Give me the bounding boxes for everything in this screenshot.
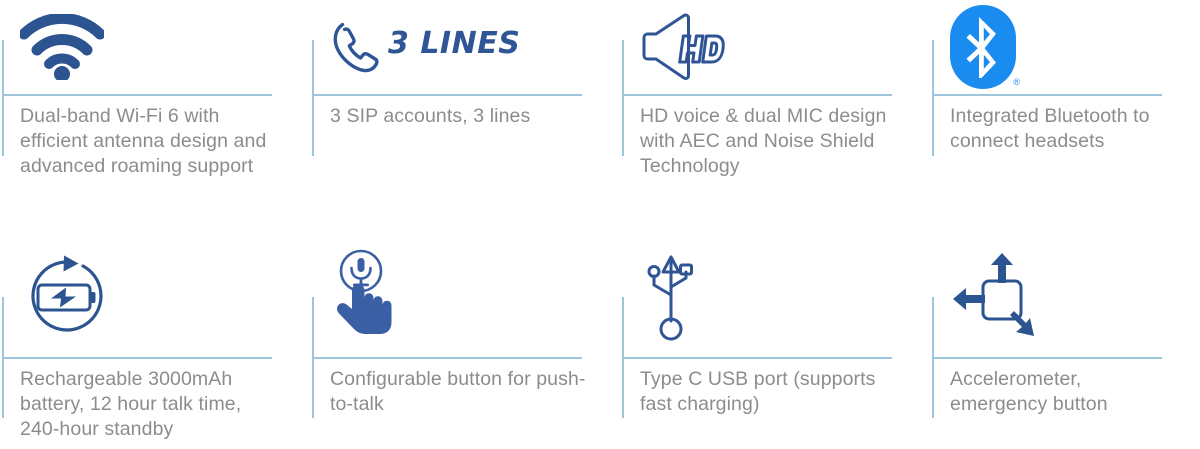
feature-caption: Configurable button for push-to-talk: [330, 367, 592, 417]
feature-card-usb: Type C USB port (supports fast charging): [620, 232, 930, 449]
horizontal-divider: [2, 94, 272, 96]
hd-speaker-icon: [640, 10, 732, 84]
horizontal-divider: [932, 94, 1162, 96]
push-to-talk-hand-icon: [330, 249, 404, 345]
phone-handset-icon: [330, 19, 382, 75]
usb-icon: [640, 251, 702, 343]
feature-card-accelerometer: Accelerometer, emergency button: [930, 232, 1200, 449]
horizontal-divider: [312, 94, 582, 96]
feature-caption: Rechargeable 3000mAh battery, 12 hour ta…: [20, 367, 282, 442]
microphone-icon: [352, 258, 371, 286]
feature-card-bluetooth: ® Integrated Bluetooth to connect headse…: [930, 0, 1200, 232]
horizontal-divider: [622, 94, 892, 96]
bluetooth-icon: [950, 5, 1016, 89]
feature-caption: Dual-band Wi-Fi 6 with efficient antenna…: [20, 104, 282, 179]
icon-area: [20, 0, 104, 94]
feature-caption: Accelerometer, emergency button: [950, 367, 1172, 417]
hand-shape: [337, 285, 392, 334]
icon-area: 3 LINES: [330, 0, 520, 94]
rechargeable-battery-icon: [20, 253, 112, 341]
feature-card-3-lines: 3 LINES 3 SIP accounts, 3 lines: [310, 0, 620, 232]
icon-area: ®: [950, 0, 1016, 94]
feature-card-hd-voice: HD voice & dual MIC design with AEC and …: [620, 0, 930, 232]
vertical-divider: [622, 40, 624, 156]
vertical-divider: [312, 40, 314, 156]
vertical-divider: [932, 40, 934, 156]
hd-letters: [680, 36, 725, 62]
wifi-icon: [20, 14, 104, 80]
icon-area: [330, 234, 404, 359]
feature-card-battery: Rechargeable 3000mAh battery, 12 hour ta…: [0, 232, 310, 449]
registered-trademark-label: ®: [1013, 78, 1020, 87]
icon-area: [640, 0, 732, 94]
recycle-arrow-head: [64, 255, 79, 271]
feature-caption: 3 SIP accounts, 3 lines: [330, 104, 592, 129]
feature-caption: Type C USB port (supports fast charging): [640, 367, 902, 417]
icon-area: [950, 234, 1042, 359]
bluetooth-logo: ®: [950, 5, 1016, 89]
three-lines-label: 3 LINES: [388, 29, 520, 59]
icon-area: [20, 234, 112, 359]
feature-card-push-to-talk: Configurable button for push-to-talk: [310, 232, 620, 449]
icon-area: [640, 234, 702, 359]
accelerometer-icon: [950, 251, 1042, 343]
lightning-bolt-icon: [51, 287, 76, 307]
feature-caption: HD voice & dual MIC design with AEC and …: [640, 104, 902, 179]
wifi-dot: [54, 66, 70, 80]
feature-card-wifi: Dual-band Wi-Fi 6 with efficient antenna…: [0, 0, 310, 232]
feature-grid: Dual-band Wi-Fi 6 with efficient antenna…: [0, 0, 1200, 449]
feature-caption: Integrated Bluetooth to connect headsets: [950, 104, 1172, 154]
vertical-divider: [2, 40, 4, 156]
three-lines-badge: 3 LINES: [330, 19, 520, 75]
